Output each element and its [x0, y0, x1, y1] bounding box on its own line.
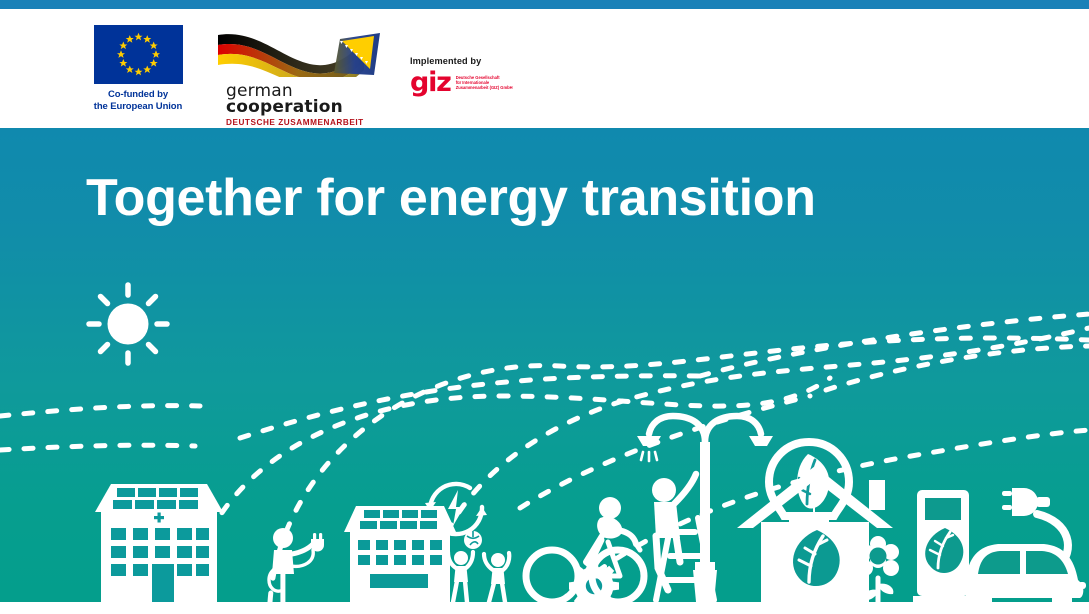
giz-implemented-by-label: Implemented by	[410, 56, 528, 66]
top-accent-bar	[0, 0, 1089, 9]
german-cooperation-logo: german cooperation DEUTSCHE ZUSAMMENARBE…	[214, 25, 386, 127]
solar-school-building-icon	[344, 506, 456, 602]
eu-caption: Co-funded by the European Union	[94, 89, 182, 112]
eu-logo: Co-funded by the European Union	[86, 25, 190, 112]
giz-wordmark: giz	[410, 71, 451, 94]
logo-row: Co-funded by the European Union	[86, 25, 528, 120]
child-right	[484, 553, 509, 602]
german-cooperation-ribbon-icon	[214, 25, 382, 77]
child-left	[448, 551, 473, 602]
energy-transition-banner: Co-funded by the European Union	[0, 0, 1089, 614]
logo-band: Co-funded by the European Union	[0, 9, 1089, 128]
ball-icon	[464, 531, 482, 549]
electric-car-icon	[962, 488, 1086, 602]
german-coop-line3: DEUTSCHE ZUSAMMENARBEIT	[226, 118, 386, 127]
eu-stars-icon	[94, 25, 183, 84]
bottom-white-strip	[0, 602, 1089, 614]
giz-logo: Implemented by giz Deutsche Gesellschaft…	[410, 25, 528, 94]
lamp-light-rays	[641, 452, 657, 461]
german-coop-line2: cooperation	[226, 99, 386, 115]
german-cooperation-wordmark: german cooperation DEUTSCHE ZUSAMMENARBE…	[214, 83, 386, 127]
solar-hospital-building-icon	[95, 484, 223, 602]
sun-icon	[89, 285, 167, 363]
energy-transition-illustration	[0, 128, 1089, 602]
giz-wordmark-row: giz Deutsche Gesellschaft für Internatio…	[410, 71, 528, 94]
eu-caption-line1: Co-funded by	[94, 89, 182, 101]
children-playing-ball-icon	[448, 531, 509, 602]
eu-caption-line2: the European Union	[94, 101, 182, 113]
giz-fullname-line3: Zusammenarbeit (GIZ) GmbH	[456, 85, 513, 90]
person-with-plug-icon	[269, 528, 324, 602]
giz-fullname: Deutsche Gesellschaft für Internationale…	[456, 75, 513, 90]
hero-section: Together for energy transition	[0, 128, 1089, 602]
european-union-flag-icon	[94, 25, 183, 84]
